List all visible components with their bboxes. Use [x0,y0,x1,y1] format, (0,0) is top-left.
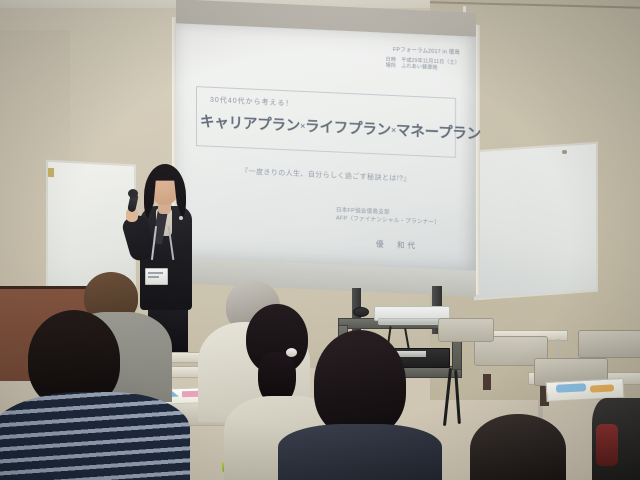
handout-graphic-4 [590,384,614,392]
microphone-head-icon [128,189,138,198]
hair-clip-icon [286,348,297,357]
audience-a7-bag [596,424,618,466]
chair-back-center [438,318,494,342]
handout-graphic-3 [556,383,586,393]
slide-title-part-1: キャリアプラン [200,114,300,135]
slide-header: FPフォーラム2017 in 徳島 日時 平成29年11月11日（土） 場所 ふ… [386,47,460,73]
cart-knob-icon [353,307,369,317]
handout-graphic-2 [182,391,199,398]
audience-a5-body [278,424,442,480]
whiteboard-right [474,142,598,301]
lapel-pin-icon [179,216,183,220]
whiteboard-clip-icon [48,168,54,177]
audience-a6-head [470,414,566,480]
slide-credit: 日本FP協会徳島支部 AFP（ファイナンシャル・プランナー） [336,206,440,228]
desk-foot-1 [483,374,491,390]
slide-subtitle: 『一度きりの人生、自分らしく過ごす秘訣とは!?』 [176,163,476,187]
audience-a1-striped-top [0,392,190,480]
slide-speaker-name: 優 和代 [376,238,418,251]
name-badge-line-1 [148,272,163,274]
chair-back-right-2 [578,330,640,358]
name-badge-line-2 [148,276,159,278]
screen-rail-right [476,25,480,295]
whiteboard-knob-icon [562,150,567,154]
slide-title-part-2: ライフプラン [305,119,391,139]
projection-screen: FPフォーラム2017 in 徳島 日時 平成29年11月11日（土） 場所 ふ… [176,0,476,295]
audience-a5-head [314,330,406,436]
seminar-room-photo: FPフォーラム2017 in 徳島 日時 平成29年11月11日（土） 場所 ふ… [0,0,640,480]
slide-title-part-3: マネープラン [396,123,481,143]
slide-forum-title: FPフォーラム2017 in 徳島 [386,47,460,57]
projected-slide: FPフォーラム2017 in 徳島 日時 平成29年11月11日（土） 場所 ふ… [176,23,476,275]
